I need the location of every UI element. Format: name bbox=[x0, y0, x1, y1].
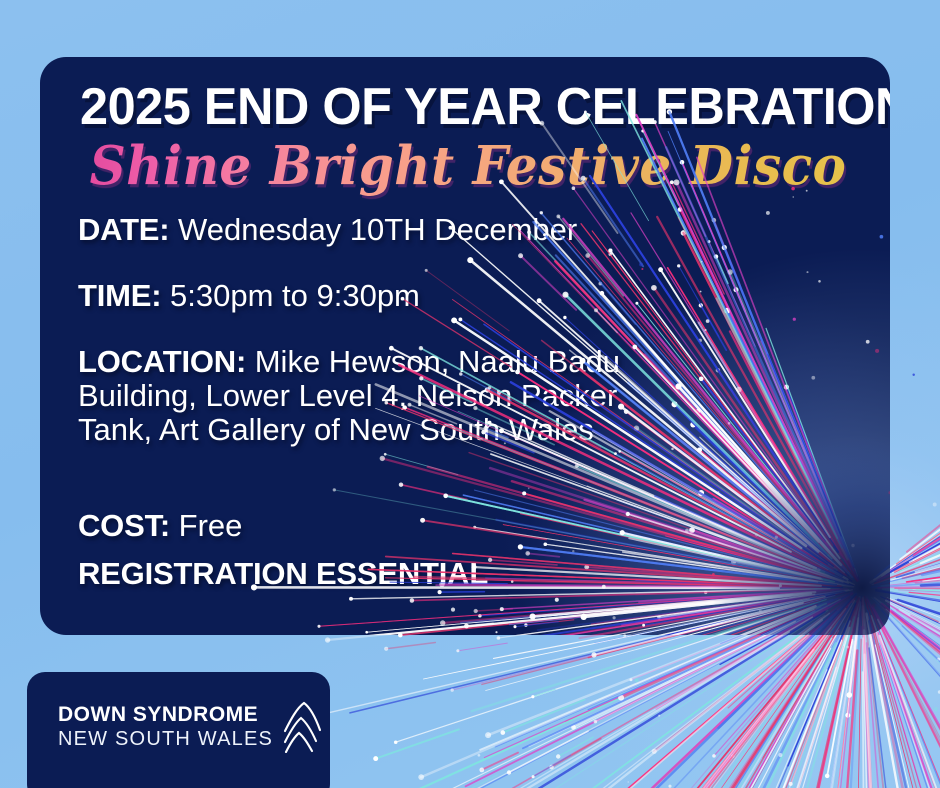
detail-row-registration: REGISTRATION ESSENTIAL bbox=[78, 557, 488, 590]
location-label: LOCATION: bbox=[78, 344, 246, 379]
organisation-logo-card: DOWN SYNDROME NEW SOUTH WALES bbox=[27, 672, 330, 788]
cost-label: COST: bbox=[78, 508, 170, 543]
date-value: Wednesday 10TH December bbox=[178, 212, 577, 247]
detail-row-location: LOCATION: Mike Hewson, Naalu Badu Buildi… bbox=[78, 345, 633, 447]
logo-line-primary: DOWN SYNDROME bbox=[58, 702, 273, 727]
date-label: DATE: bbox=[78, 212, 169, 247]
event-poster: 2025 END OF YEAR CELEBRATION Shine Brigh… bbox=[0, 0, 940, 788]
page-subtitle: Shine Bright Festive Disco bbox=[68, 133, 868, 199]
logo-text: DOWN SYNDROME NEW SOUTH WALES bbox=[58, 702, 273, 752]
time-label: TIME: bbox=[78, 278, 161, 313]
chevron-arrows-icon bbox=[282, 701, 322, 753]
page-title: 2025 END OF YEAR CELEBRATION bbox=[80, 78, 856, 136]
main-content-card: 2025 END OF YEAR CELEBRATION Shine Brigh… bbox=[40, 57, 890, 635]
registration-notice: REGISTRATION ESSENTIAL bbox=[78, 556, 488, 591]
logo-lockup: DOWN SYNDROME NEW SOUTH WALES bbox=[58, 701, 322, 753]
detail-row-cost: COST: Free bbox=[78, 509, 242, 542]
time-value: 5:30pm to 9:30pm bbox=[170, 278, 420, 313]
card-content: 2025 END OF YEAR CELEBRATION Shine Brigh… bbox=[40, 57, 890, 635]
detail-row-time: TIME: 5:30pm to 9:30pm bbox=[78, 279, 420, 312]
logo-line-secondary: NEW SOUTH WALES bbox=[58, 727, 273, 752]
cost-value: Free bbox=[179, 508, 243, 543]
detail-row-date: DATE: Wednesday 10TH December bbox=[78, 213, 577, 246]
